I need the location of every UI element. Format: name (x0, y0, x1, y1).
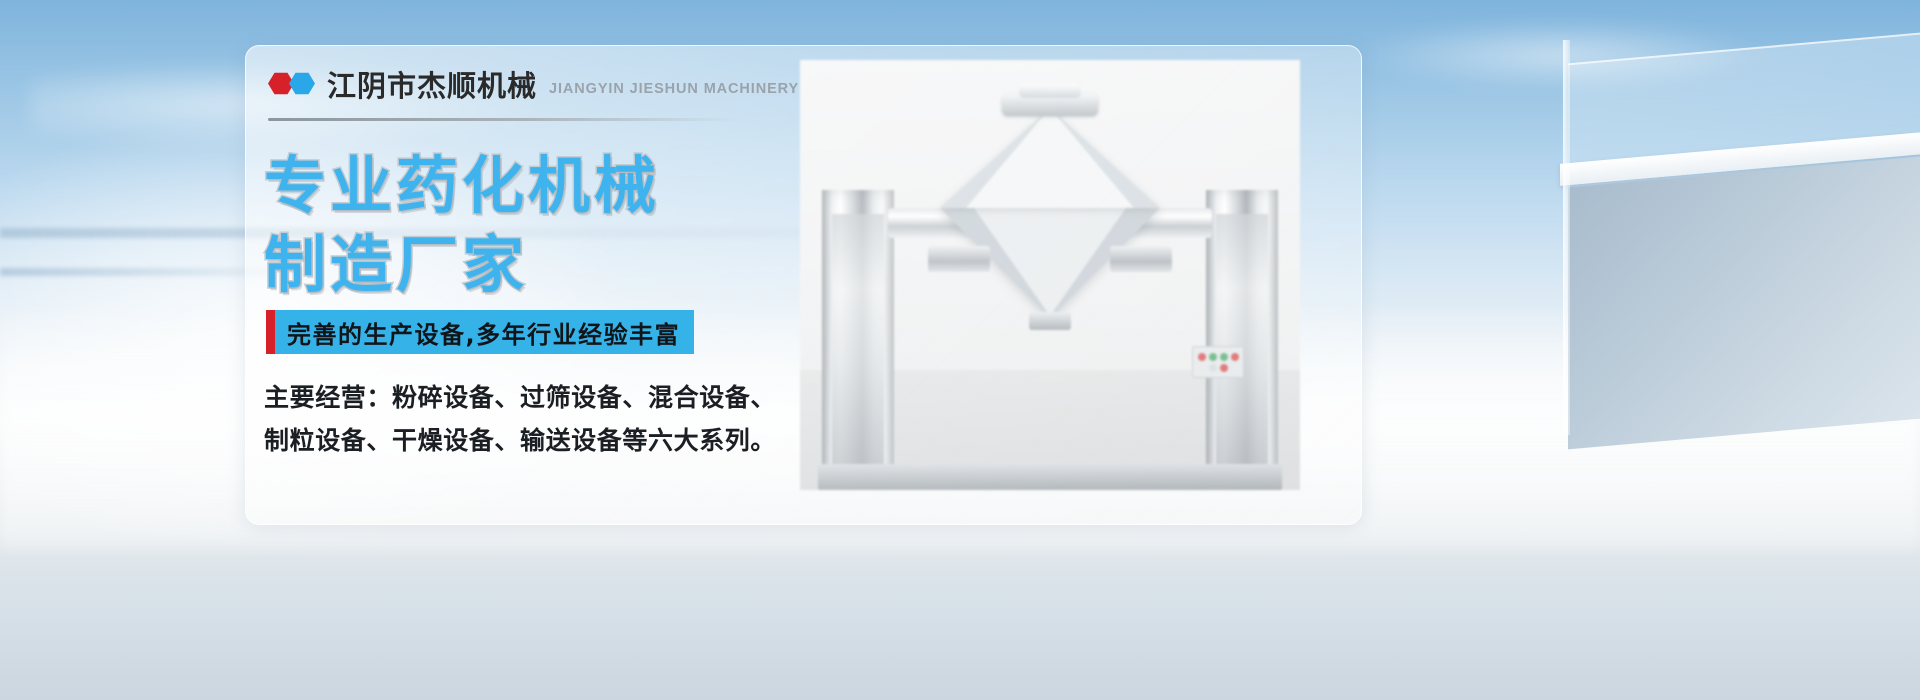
banner-stage: 江阴市杰顺机械 JIANGYIN JIESHUN MACHINERY 专业药化机… (0, 0, 1920, 700)
headline-line-2: 制造厂家 (264, 225, 660, 304)
glass-building (1320, 0, 1920, 430)
slogan-bar: 完善的生产设备,多年行业经验丰富 (266, 310, 694, 354)
brand-lockup: 江阴市杰顺机械 JIANGYIN JIESHUN MACHINERY (268, 72, 799, 101)
ground-layer (0, 530, 1920, 700)
business-scope-line-2: 制粒设备、干燥设备、输送设备等六大系列。 (264, 419, 776, 462)
business-scope-line-1: 主要经营：粉碎设备、过筛设备、混合设备、 (264, 376, 776, 419)
company-name-cn: 江阴市杰顺机械 (327, 72, 537, 101)
headline-line-1: 专业药化机械 (264, 146, 660, 225)
brand-divider (268, 118, 738, 121)
company-name-en: JIANGYIN JIESHUN MACHINERY (549, 81, 799, 97)
building-post (1563, 40, 1570, 435)
building-wall (1568, 157, 1920, 450)
content-card: 江阴市杰顺机械 JIANGYIN JIESHUN MACHINERY 专业药化机… (245, 45, 1362, 525)
hexagon-blue-icon (289, 72, 315, 95)
company-logo (268, 72, 315, 95)
business-scope: 主要经营：粉碎设备、过筛设备、混合设备、 制粒设备、干燥设备、输送设备等六大系列… (264, 376, 776, 462)
slogan-text: 完善的生产设备,多年行业经验丰富 (287, 315, 680, 350)
headline: 专业药化机械 制造厂家 (264, 146, 660, 305)
